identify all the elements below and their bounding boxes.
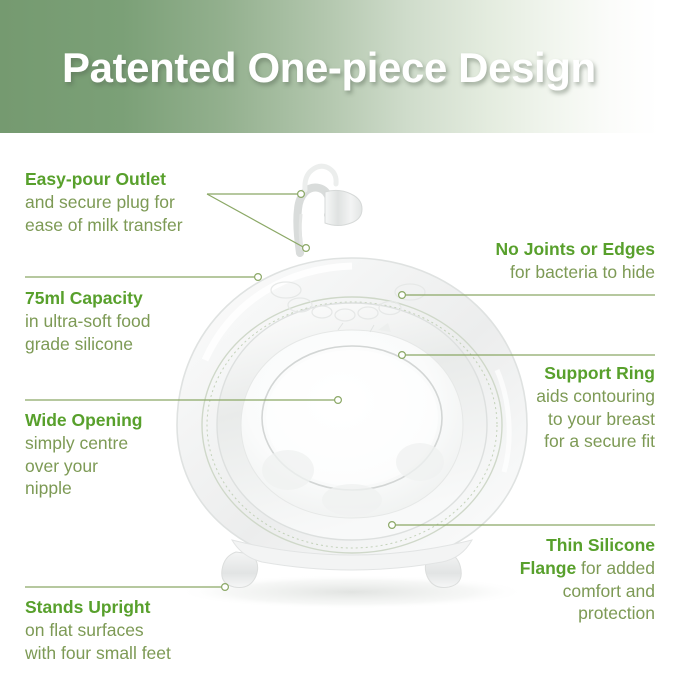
callout-support-ring: Support Ring aids contouring to your bre… <box>355 362 655 453</box>
callout-thin-flange-line1: Thin Silicone <box>355 534 655 557</box>
callout-thin-flange-bold2: Flange <box>520 558 576 578</box>
callout-thin-silicone-flange: Thin Silicone Flange for added comfort a… <box>355 534 655 625</box>
callout-thin-flange-line3: comfort and <box>563 581 655 601</box>
callout-wide-opening-line2: simply centre <box>25 433 128 453</box>
callout-support-ring-heading: Support Ring <box>355 362 655 385</box>
callout-thin-flange-rest2: for added <box>576 558 655 578</box>
callout-easy-pour-line2: and secure plug for <box>25 192 175 212</box>
callout-stands-upright-heading: Stands Upright <box>25 596 265 619</box>
callout-capacity-line3: grade silicone <box>25 334 133 354</box>
callout-75ml-capacity: 75ml Capacity in ultra-soft food grade s… <box>25 287 245 355</box>
callout-easy-pour-heading: Easy-pour Outlet <box>25 168 255 191</box>
callout-stands-upright-line3: with four small feet <box>25 643 171 663</box>
callout-stands-upright: Stands Upright on flat surfaces with fou… <box>25 596 265 664</box>
callout-no-joints-or-edges: No Joints or Edges for bacteria to hide <box>355 238 655 284</box>
callout-capacity-line2: in ultra-soft food <box>25 311 150 331</box>
callout-stands-upright-line2: on flat surfaces <box>25 620 144 640</box>
callout-wide-opening-line3: over your <box>25 456 98 476</box>
callout-wide-opening-line4: nipple <box>25 478 72 498</box>
callout-support-ring-line4: for a secure fit <box>544 431 655 451</box>
callout-thin-flange-line4: protection <box>578 603 655 623</box>
callout-wide-opening-heading: Wide Opening <box>25 409 225 432</box>
callout-easy-pour-outlet: Easy-pour Outlet and secure plug for eas… <box>25 168 255 236</box>
callout-no-joints-heading: No Joints or Edges <box>355 238 655 261</box>
callout-no-joints-line2: for bacteria to hide <box>510 262 655 282</box>
callout-support-ring-line3: to your breast <box>548 409 655 429</box>
callout-support-ring-line2: aids contouring <box>536 386 655 406</box>
callout-wide-opening: Wide Opening simply centre over your nip… <box>25 409 225 500</box>
callout-capacity-heading: 75ml Capacity <box>25 287 245 310</box>
callout-easy-pour-line3: ease of milk transfer <box>25 215 183 235</box>
